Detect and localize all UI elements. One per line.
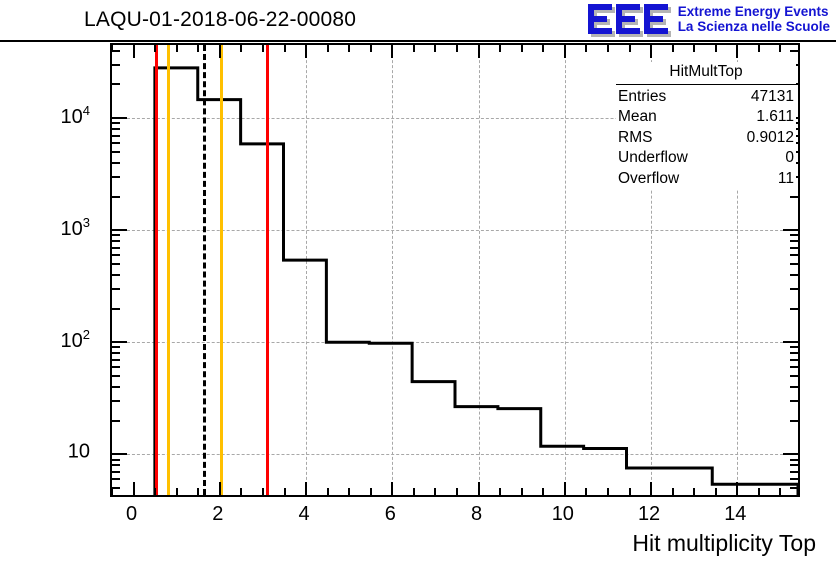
x-tick bbox=[456, 488, 458, 495]
eee-letter-icon bbox=[588, 4, 612, 34]
y-tick bbox=[112, 135, 120, 137]
y-tick bbox=[112, 247, 120, 249]
y-tick bbox=[112, 352, 120, 354]
y-tick bbox=[112, 142, 120, 144]
y-tick-right bbox=[790, 308, 798, 310]
y-tick-right bbox=[790, 471, 798, 473]
x-tick-top bbox=[133, 45, 135, 58]
x-tick-top bbox=[327, 45, 329, 52]
y-tick bbox=[112, 151, 120, 153]
eee-logo: Extreme Energy Events La Scienza nelle S… bbox=[588, 2, 830, 36]
x-tick-top bbox=[219, 45, 221, 58]
y-tick bbox=[112, 341, 127, 343]
x-tick bbox=[542, 488, 544, 495]
y-tick bbox=[112, 229, 127, 231]
x-tick-top bbox=[478, 45, 480, 58]
y-tick bbox=[112, 83, 120, 85]
y-tick bbox=[112, 117, 127, 119]
x-tick bbox=[736, 482, 738, 495]
x-tick-top bbox=[542, 45, 544, 52]
y-tick bbox=[112, 50, 120, 52]
x-tick-top bbox=[434, 45, 436, 52]
x-tick bbox=[154, 488, 156, 495]
y-tick bbox=[112, 459, 120, 461]
x-tick-top bbox=[305, 45, 307, 58]
x-tick-top bbox=[284, 45, 286, 52]
stats-title: HitMultTop bbox=[616, 62, 796, 84]
y-tick bbox=[112, 478, 120, 480]
x-tick-top bbox=[176, 45, 178, 52]
eee-logo-line2: La Scienza nelle Scuole bbox=[678, 19, 830, 34]
y-tick-right bbox=[790, 366, 798, 368]
y-tick-right bbox=[790, 254, 798, 256]
y-tick bbox=[112, 234, 120, 236]
x-tick bbox=[478, 482, 480, 495]
y-tick-label: 102 bbox=[0, 328, 90, 354]
y-tick-right bbox=[790, 234, 798, 236]
x-tick bbox=[133, 482, 135, 495]
x-tick bbox=[758, 488, 760, 495]
eee-letter-icon bbox=[616, 4, 640, 34]
x-tick-label: 14 bbox=[724, 503, 746, 526]
y-tick-label: 103 bbox=[0, 215, 90, 241]
x-tick bbox=[585, 488, 587, 495]
x-tick bbox=[499, 488, 501, 495]
x-tick-top bbox=[736, 45, 738, 58]
x-tick bbox=[693, 488, 695, 495]
x-tick-top bbox=[370, 45, 372, 52]
stats-value: 11 bbox=[778, 169, 794, 190]
y-tick-right bbox=[790, 420, 798, 422]
y-tick bbox=[112, 288, 120, 290]
marker-line-red-high bbox=[266, 45, 269, 495]
stats-key: RMS bbox=[618, 128, 652, 149]
root-canvas: LAQU-01-2018-06-22-00080 Extreme Energy … bbox=[0, 0, 836, 572]
stats-divider bbox=[616, 84, 796, 85]
x-tick bbox=[370, 488, 372, 495]
y-tick bbox=[112, 122, 120, 124]
x-tick-top bbox=[585, 45, 587, 52]
x-tick-label: 4 bbox=[299, 503, 310, 526]
x-tick bbox=[650, 482, 652, 495]
x-tick bbox=[176, 488, 178, 495]
x-tick-top bbox=[693, 45, 695, 52]
x-tick bbox=[240, 488, 242, 495]
y-tick-right bbox=[790, 288, 798, 290]
page-title: LAQU-01-2018-06-22-00080 bbox=[84, 8, 356, 32]
x-tick-top bbox=[650, 45, 652, 58]
y-tick-right bbox=[790, 50, 798, 52]
y-tick bbox=[112, 254, 120, 256]
y-tick-right bbox=[790, 196, 798, 198]
y-tick bbox=[112, 359, 120, 361]
y-tick-right bbox=[790, 478, 798, 480]
marker-line-red-low bbox=[155, 45, 158, 495]
stats-key: Overflow bbox=[618, 169, 679, 190]
header-divider bbox=[0, 40, 836, 42]
y-tick-right bbox=[790, 375, 798, 377]
stats-key: Entries bbox=[618, 87, 666, 108]
x-tick-label: 8 bbox=[471, 503, 482, 526]
x-tick bbox=[262, 488, 264, 495]
x-tick bbox=[779, 488, 781, 495]
x-tick-top bbox=[154, 45, 156, 52]
x-axis-title: Hit multiplicity Top bbox=[632, 530, 816, 557]
stats-key: Mean bbox=[618, 107, 657, 128]
stats-value: 0.9012 bbox=[747, 128, 794, 149]
x-tick bbox=[391, 482, 393, 495]
stats-row: Overflow11 bbox=[616, 169, 796, 190]
y-tick bbox=[112, 162, 120, 164]
y-tick-right bbox=[783, 341, 798, 343]
x-tick-label: 12 bbox=[638, 503, 660, 526]
x-tick-top bbox=[521, 45, 523, 52]
y-tick bbox=[112, 240, 120, 242]
y-tick-right bbox=[790, 464, 798, 466]
x-tick-top bbox=[564, 45, 566, 58]
x-tick bbox=[521, 488, 523, 495]
x-tick-top bbox=[262, 45, 264, 52]
y-tick-right bbox=[790, 359, 798, 361]
x-tick bbox=[629, 488, 631, 495]
y-tick-right bbox=[783, 453, 798, 455]
y-tick bbox=[112, 471, 120, 473]
stats-box: HitMultTop Entries47131Mean1.611RMS0.901… bbox=[616, 62, 796, 190]
y-tick-right bbox=[790, 247, 798, 249]
stats-key: Underflow bbox=[618, 148, 688, 169]
y-tick-label: 104 bbox=[0, 103, 90, 129]
y-tick bbox=[112, 386, 120, 388]
eee-logo-text: Extreme Energy Events La Scienza nelle S… bbox=[678, 2, 830, 34]
y-tick-right bbox=[790, 274, 798, 276]
marker-line-mean-dashed bbox=[203, 45, 206, 495]
x-tick bbox=[564, 482, 566, 495]
y-tick-right bbox=[790, 263, 798, 265]
x-tick bbox=[715, 488, 717, 495]
y-tick bbox=[112, 375, 120, 377]
y-tick-right bbox=[790, 487, 798, 489]
y-tick-right bbox=[790, 240, 798, 242]
y-tick bbox=[112, 487, 120, 489]
x-tick-top bbox=[629, 45, 631, 52]
y-tick bbox=[112, 128, 120, 130]
stats-value: 1.611 bbox=[756, 107, 794, 128]
y-tick-right bbox=[790, 352, 798, 354]
marker-line-orange-high bbox=[220, 45, 223, 495]
x-tick-top bbox=[197, 45, 199, 52]
y-tick-right bbox=[783, 229, 798, 231]
x-tick bbox=[348, 488, 350, 495]
y-tick-right bbox=[790, 400, 798, 402]
y-tick-right bbox=[790, 459, 798, 461]
x-tick-top bbox=[779, 45, 781, 52]
x-tick-label: 2 bbox=[212, 503, 223, 526]
y-tick bbox=[112, 464, 120, 466]
x-tick-top bbox=[758, 45, 760, 52]
x-tick-top bbox=[499, 45, 501, 52]
y-tick bbox=[112, 274, 120, 276]
marker-line-orange-low bbox=[167, 45, 170, 495]
y-tick bbox=[112, 453, 127, 455]
y-tick bbox=[112, 176, 120, 178]
stats-rows: Entries47131Mean1.611RMS0.9012Underflow0… bbox=[616, 87, 796, 190]
eee-logo-mark bbox=[588, 2, 672, 36]
x-tick bbox=[413, 488, 415, 495]
x-tick-top bbox=[456, 45, 458, 52]
y-tick bbox=[112, 263, 120, 265]
eee-logo-line1: Extreme Energy Events bbox=[678, 4, 830, 19]
stats-value: 47131 bbox=[751, 87, 794, 108]
x-tick-top bbox=[715, 45, 717, 52]
x-tick-label: 0 bbox=[126, 503, 137, 526]
x-tick-top bbox=[240, 45, 242, 52]
y-tick bbox=[112, 308, 120, 310]
x-tick bbox=[219, 482, 221, 495]
x-tick bbox=[672, 488, 674, 495]
eee-letter-icon bbox=[644, 4, 668, 34]
stats-row: Mean1.611 bbox=[616, 107, 796, 128]
x-tick bbox=[305, 482, 307, 495]
stats-row: RMS0.9012 bbox=[616, 128, 796, 149]
x-tick-label: 6 bbox=[385, 503, 396, 526]
x-tick-label: 10 bbox=[552, 503, 574, 526]
y-tick bbox=[112, 64, 120, 66]
x-tick bbox=[197, 488, 199, 495]
x-tick-top bbox=[391, 45, 393, 58]
x-tick-top bbox=[607, 45, 609, 52]
y-tick bbox=[112, 366, 120, 368]
x-tick-top bbox=[348, 45, 350, 52]
x-tick bbox=[434, 488, 436, 495]
y-tick-label: 10 bbox=[0, 441, 90, 464]
stats-row: Entries47131 bbox=[616, 87, 796, 108]
x-tick bbox=[327, 488, 329, 495]
y-tick-right bbox=[790, 386, 798, 388]
x-tick bbox=[607, 488, 609, 495]
y-tick bbox=[112, 196, 120, 198]
stats-value: 0 bbox=[785, 148, 794, 169]
y-tick bbox=[112, 346, 120, 348]
y-tick-right bbox=[790, 346, 798, 348]
x-tick-top bbox=[672, 45, 674, 52]
x-tick bbox=[284, 488, 286, 495]
x-tick-top bbox=[413, 45, 415, 52]
y-tick bbox=[112, 420, 120, 422]
y-tick bbox=[112, 400, 120, 402]
stats-row: Underflow0 bbox=[616, 148, 796, 169]
